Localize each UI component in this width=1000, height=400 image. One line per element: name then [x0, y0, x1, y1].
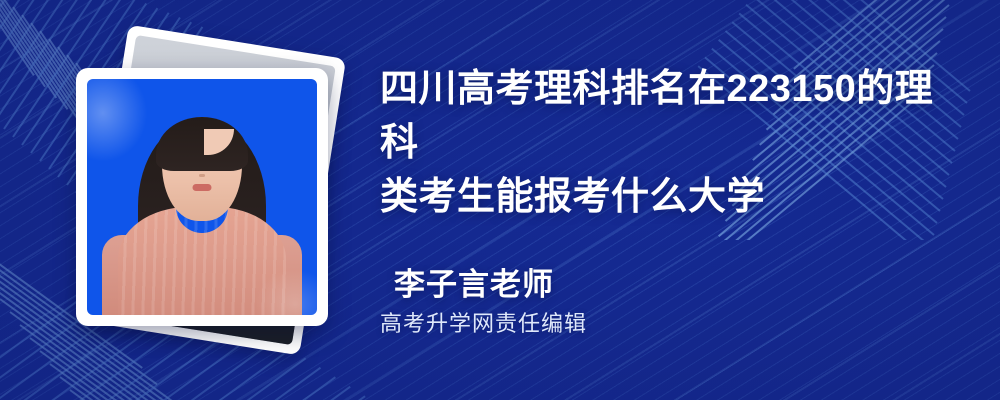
portrait-nose [199, 174, 205, 177]
article-title-line-2: 类考生能报考什么大学 [380, 176, 765, 218]
article-title: 四川高考理科排名在223150的理科 类考生能报考什么大学 [380, 62, 970, 224]
author-name: 李子言老师 [380, 266, 900, 304]
photo-card-front [76, 68, 328, 326]
banner-text-content: 四川高考理科排名在223150的理科 类考生能报考什么大学 李子言老师 高考升学… [380, 0, 980, 400]
portrait-lips [193, 184, 212, 191]
article-title-line-1: 四川高考理科排名在223150的理科 [380, 68, 933, 164]
author-role: 高考升学网责任编辑 [380, 308, 900, 340]
photo-card-stack [62, 38, 362, 358]
author-byline: 李子言老师 高考升学网责任编辑 [380, 266, 900, 340]
article-header-banner: 四川高考理科排名在223150的理科 类考生能报考什么大学 李子言老师 高考升学… [0, 0, 1000, 400]
author-portrait-photo [87, 79, 317, 315]
